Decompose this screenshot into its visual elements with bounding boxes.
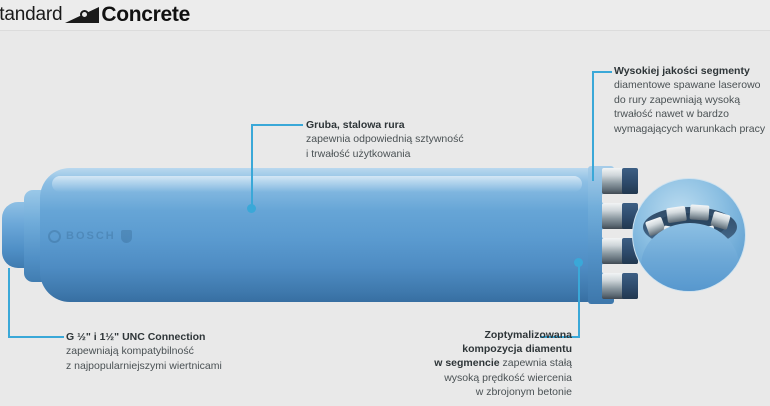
callout-line: wysoką prędkość wiercenia xyxy=(398,371,572,386)
leader-line-connection-vertical xyxy=(8,268,10,338)
callout-line: trwałość nawet w bardzo xyxy=(614,107,770,122)
header-bar: standard Concrete xyxy=(0,0,770,30)
diamond-segment xyxy=(602,273,638,299)
segment-gap xyxy=(602,264,638,273)
callout-title-line3: w segmencie zapewnia stałą xyxy=(398,356,572,371)
callout-line: wymagających warunkach pracy xyxy=(614,122,770,137)
cutting-crown xyxy=(588,166,638,304)
callout-title-line3-rest: zapewnia stałą xyxy=(500,357,572,369)
inset-segment xyxy=(690,204,710,220)
brand-word: standard xyxy=(0,4,62,26)
barrel-highlight xyxy=(52,176,582,192)
leader-line-segments-vertical xyxy=(592,71,594,181)
segment-gap xyxy=(602,194,638,203)
callout-title: G ½" i 1½" UNC Connection xyxy=(66,330,296,344)
product-illustration: BOSCH xyxy=(0,150,660,310)
callout-high-quality-segments: Wysokiej jakości segmenty diamentowe spa… xyxy=(614,64,770,136)
callout-line: do rury zapewniają wysoką xyxy=(614,93,770,108)
leader-line-connection-horizontal xyxy=(8,336,64,338)
callout-title: Gruba, stalowa rura xyxy=(306,118,516,132)
leader-dot-tube xyxy=(247,204,256,213)
header-brand-group: standard Concrete xyxy=(0,0,190,30)
inset-segment xyxy=(666,206,687,223)
callout-unc-connection: G ½" i 1½" UNC Connection zapewniają kom… xyxy=(66,330,296,373)
page-title: Concrete xyxy=(101,3,190,27)
callout-thick-steel-tube: Gruba, stalowa rura zapewnia odpowiednią… xyxy=(306,118,516,161)
barrel-brand-text: BOSCH xyxy=(66,230,116,242)
callout-line: diamentowe spawane laserowo xyxy=(614,78,770,93)
callout-line: i trwałość użytkowania xyxy=(306,147,516,162)
callout-line: zapewniają kompatybilność xyxy=(66,344,296,359)
barrel-brand-mark: BOSCH xyxy=(48,228,168,244)
drill-wedge-icon xyxy=(65,5,99,25)
leader-line-composition-vertical xyxy=(578,262,580,338)
callout-title-line2: kompozycja diamentu xyxy=(398,342,572,356)
crown-detail-inset xyxy=(632,178,746,292)
callout-line: w zbrojonym betonie xyxy=(398,385,572,400)
leader-dot-composition xyxy=(574,258,583,267)
leader-line-segments-horizontal xyxy=(592,71,612,73)
callout-line: z najpopularniejszymi wiertnicami xyxy=(66,359,296,374)
callout-title: Wysokiej jakości segmenty xyxy=(614,64,770,78)
callout-title-line1: Zoptymalizowana xyxy=(398,328,572,342)
callout-line: zapewnia odpowiednią sztywność xyxy=(306,132,516,147)
callout-title-line3-bold: w segmencie xyxy=(434,357,499,369)
leader-line-tube-horizontal xyxy=(251,124,303,126)
leader-line-tube-vertical xyxy=(251,124,253,208)
callout-diamond-composition: Zoptymalizowana kompozycja diamentu w se… xyxy=(398,328,572,400)
header-divider xyxy=(0,30,770,31)
product-diagram: standard Concrete BOSCH xyxy=(0,0,770,406)
diamond-segment xyxy=(602,168,638,194)
